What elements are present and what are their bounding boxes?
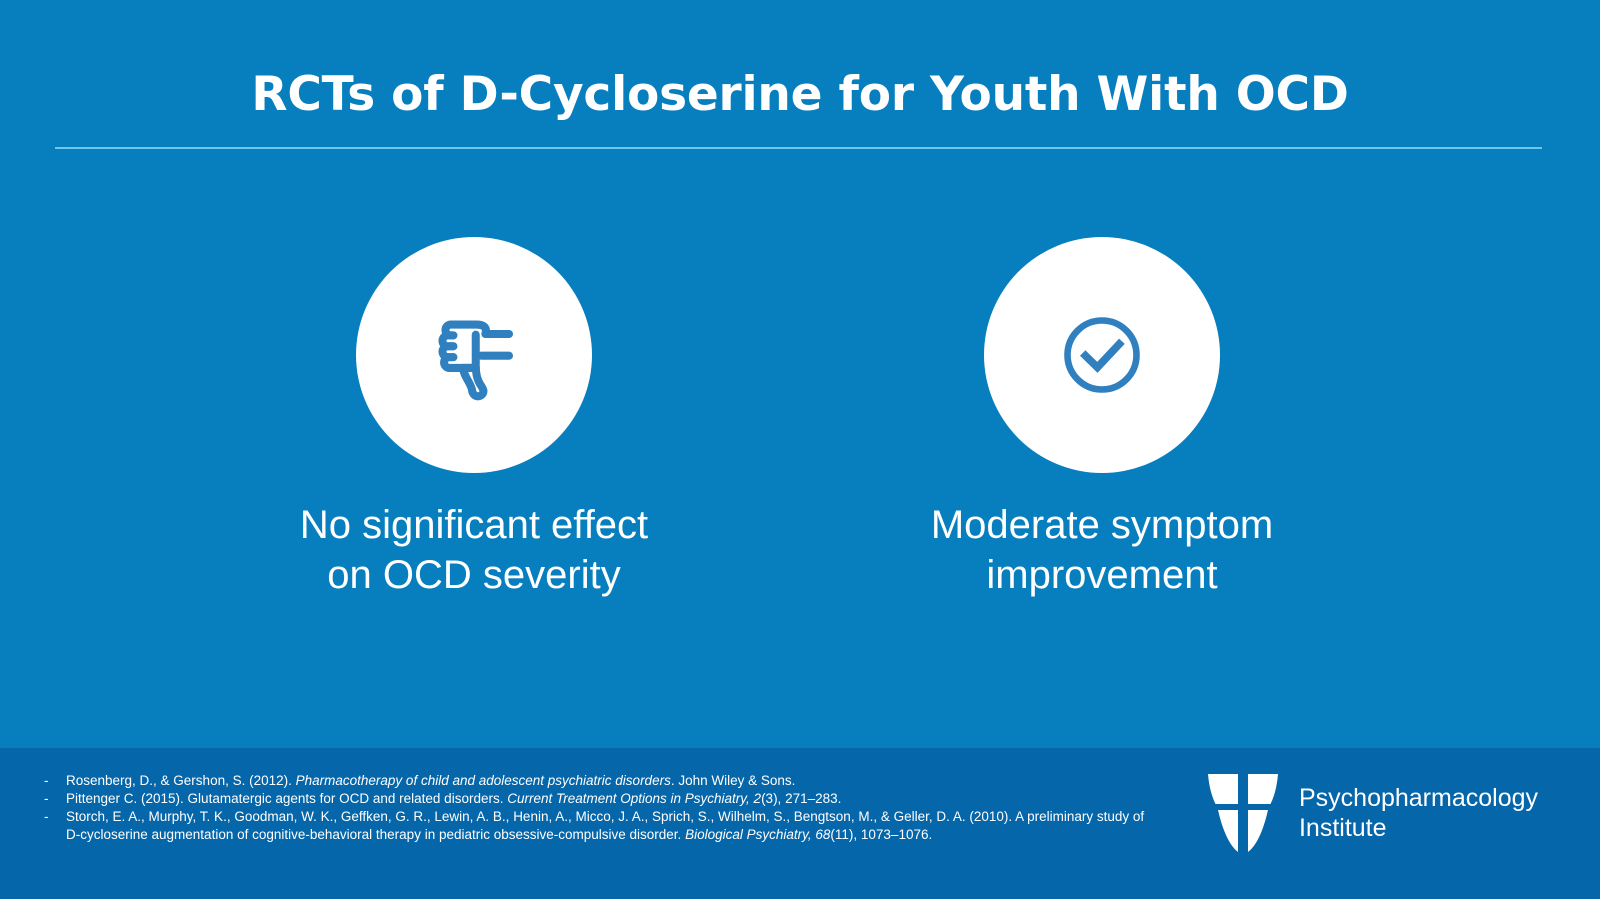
icon-circle-right [984,237,1220,473]
bullet-dash: - [44,790,66,808]
bullet-dash: - [44,772,66,790]
list-item: - Storch, E. A., Murphy, T. K., Goodman,… [44,808,1154,844]
caption-left: No significant effect on OCD severity [239,501,709,600]
check-circle-icon [1056,309,1148,401]
reference-text-3: Storch, E. A., Murphy, T. K., Goodman, W… [66,808,1154,844]
list-item: - Pittenger C. (2015). Glutamatergic age… [44,790,1154,808]
thumbs-down-icon [418,299,530,411]
column-no-significant-effect: No significant effect on OCD severity [239,237,709,600]
reference-text-2: Pittenger C. (2015). Glutamatergic agent… [66,790,1154,808]
footer-band: - Rosenberg, D., & Gershon, S. (2012). P… [0,748,1600,899]
column-moderate-improvement: Moderate symptom improvement [867,237,1337,600]
brand-logo: Psychopharmacology Institute [1205,770,1538,856]
bullet-dash: - [44,808,66,826]
page-title: RCTs of D-Cycloserine for Youth With OCD [0,68,1600,122]
icon-circle-left [356,237,592,473]
caption-right: Moderate symptom improvement [867,501,1337,600]
list-item: - Rosenberg, D., & Gershon, S. (2012). P… [44,772,1154,790]
title-divider [55,147,1542,149]
reference-text-1: Rosenberg, D., & Gershon, S. (2012). Pha… [66,772,1154,790]
brand-name: Psychopharmacology Institute [1299,783,1538,844]
shield-icon [1205,770,1281,856]
content-columns: No significant effect on OCD severity Mo… [0,237,1600,637]
slide: RCTs of D-Cycloserine for Youth With OCD [0,0,1600,899]
references-list: - Rosenberg, D., & Gershon, S. (2012). P… [44,772,1154,844]
